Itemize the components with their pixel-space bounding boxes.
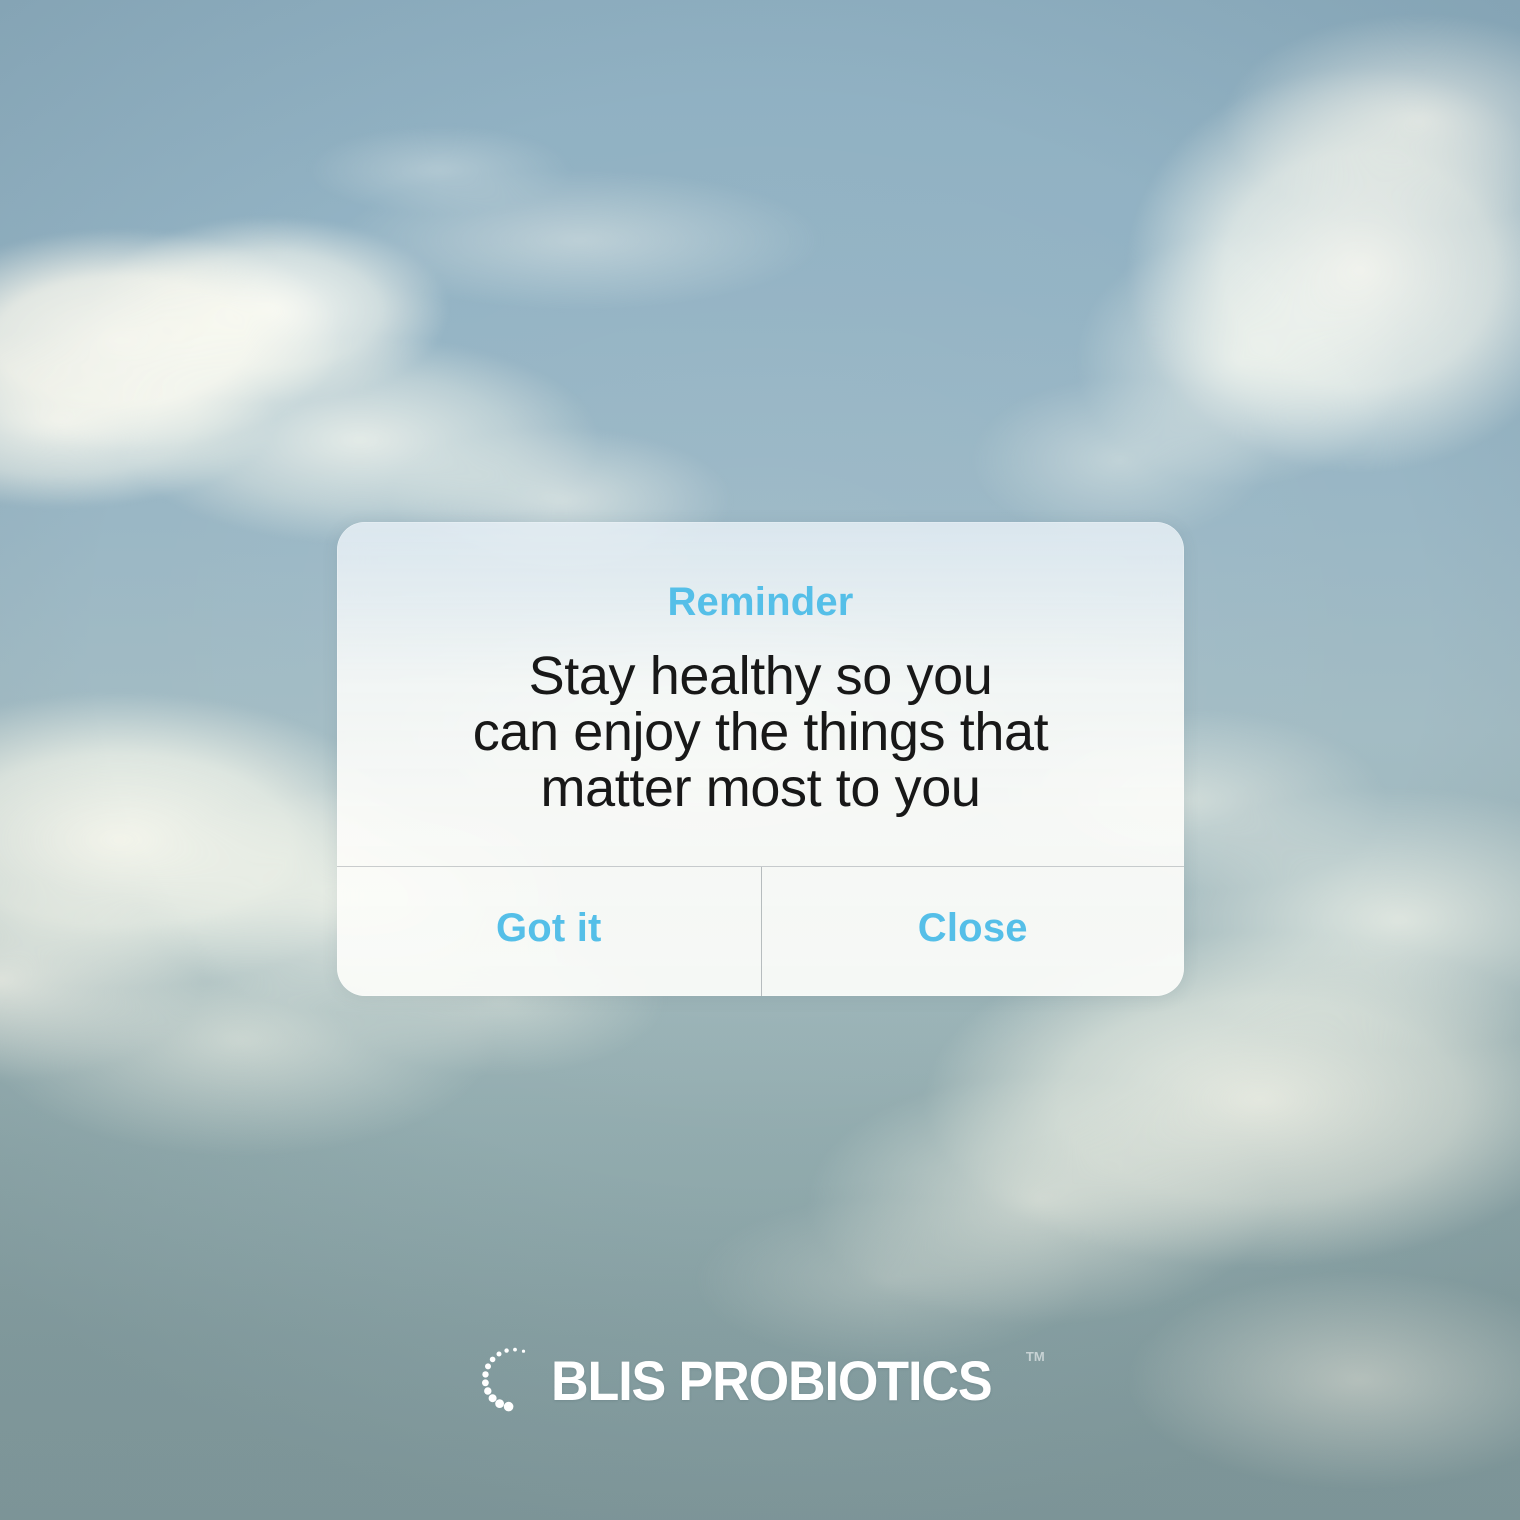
brand-lockup: BLIS PROBIOTICS TM (475, 1343, 1044, 1419)
dialog-body: Reminder Stay healthy so you can enjoy t… (337, 522, 1184, 867)
reminder-dialog: Reminder Stay healthy so you can enjoy t… (337, 522, 1184, 996)
trademark-mark: TM (1026, 1349, 1045, 1364)
close-button[interactable]: Close (761, 867, 1185, 996)
brand-logo: BLIS PROBIOTICS TM (0, 1336, 1520, 1426)
dialog-title: Reminder (667, 582, 853, 622)
dot-spiral-icon (475, 1345, 549, 1419)
dialog-message: Stay healthy so you can enjoy the things… (473, 648, 1048, 816)
got-it-button[interactable]: Got it (337, 867, 761, 996)
dialog-button-row: Got it Close (337, 866, 1184, 996)
screenshot-canvas: Reminder Stay healthy so you can enjoy t… (0, 0, 1520, 1520)
brand-wordmark: BLIS PROBIOTICS (551, 1353, 991, 1409)
